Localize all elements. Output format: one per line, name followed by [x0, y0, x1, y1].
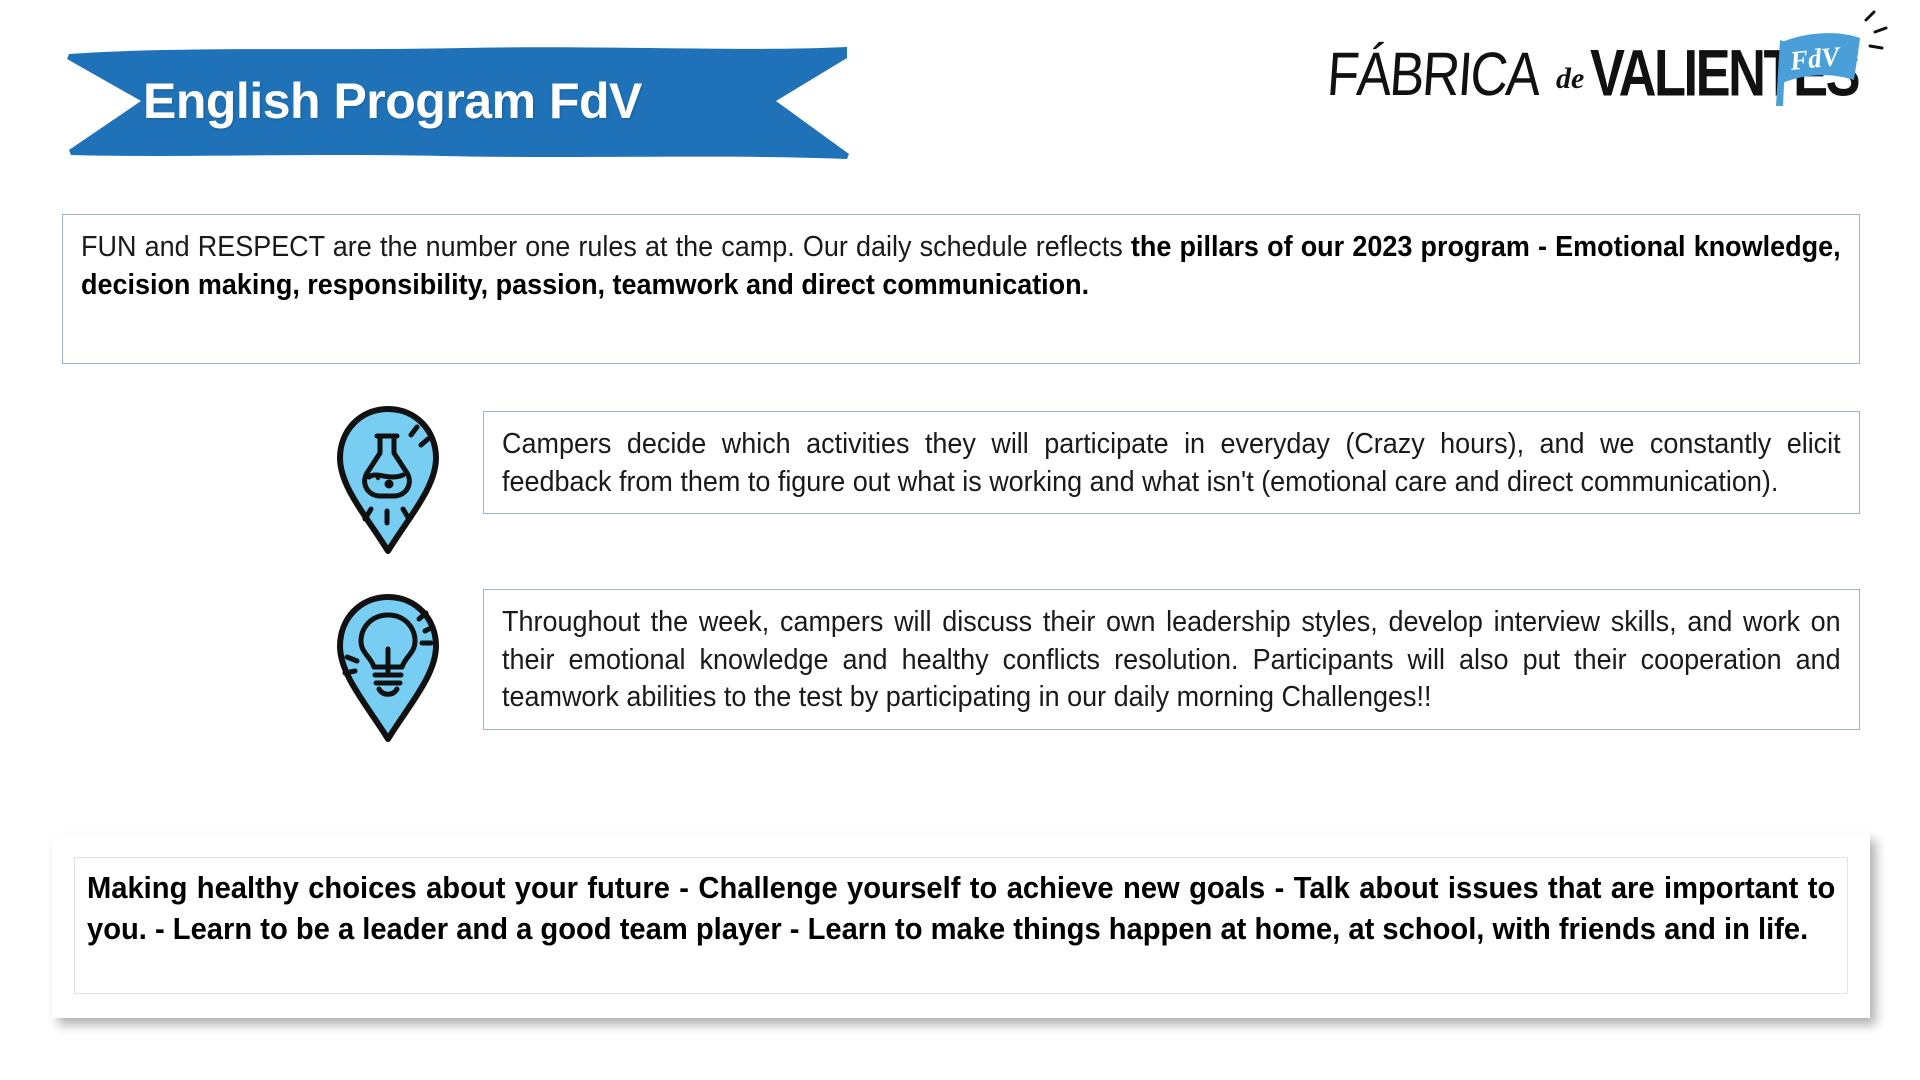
logo-flag-label: FdV: [1787, 41, 1842, 76]
highlight-card: Making healthy choices about your future…: [52, 833, 1870, 1018]
brand-logo: FÁBRICA de VALIENTES FdV: [1330, 10, 1890, 115]
item-two-paragraph: Throughout the week, campers will discus…: [502, 604, 1841, 717]
lightbulb-pin-icon: [333, 593, 443, 743]
flask-pin-icon: [333, 405, 443, 555]
item-one-paragraph: Campers decide which activities they wil…: [502, 426, 1841, 501]
logo-word-fabrica: FÁBRICA: [1330, 40, 1543, 109]
page-title: English Program FdV: [63, 42, 853, 160]
page-header: English Program FdV FÁBRICA de VALIENTES…: [0, 0, 1920, 165]
title-banner: English Program FdV: [63, 42, 853, 160]
highlight-paragraph: Making healthy choices about your future…: [87, 868, 1835, 950]
intro-plain-text: FUN and RESPECT are the number one rules…: [81, 231, 1131, 263]
logo-word-de: de: [1556, 62, 1584, 95]
intro-paragraph: FUN and RESPECT are the number one rules…: [81, 229, 1841, 304]
item-two-text-box: Throughout the week, campers will discus…: [483, 589, 1860, 730]
item-one-text-box: Campers decide which activities they wil…: [483, 411, 1860, 514]
intro-text-box: FUN and RESPECT are the number one rules…: [62, 214, 1860, 364]
highlight-inner-box: Making healthy choices about your future…: [74, 857, 1848, 994]
